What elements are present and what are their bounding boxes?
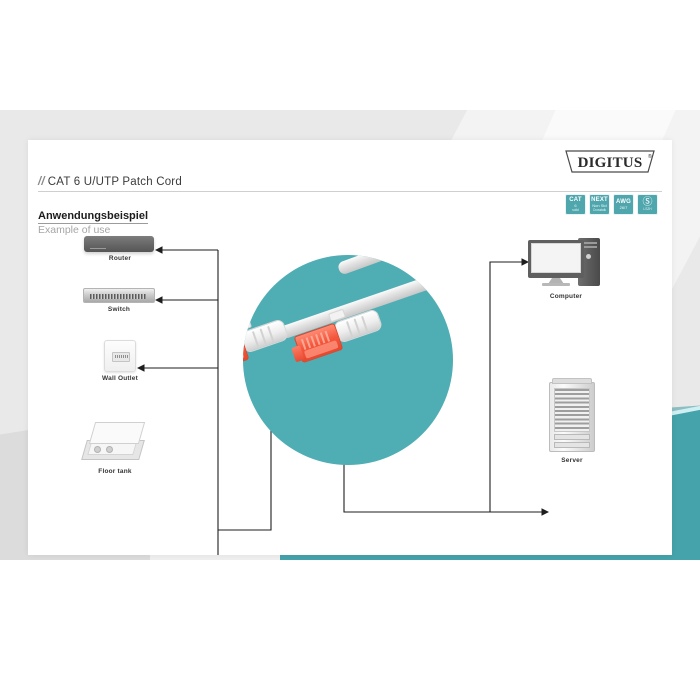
wall-outlet-icon [104, 340, 136, 372]
floor-tank-label: Floor tank [73, 468, 157, 475]
device-floor-tank[interactable]: Floor tank [73, 422, 157, 475]
server-label: Server [542, 457, 602, 464]
switch-icon [83, 288, 155, 303]
wall-outlet-label: Wall Outlet [86, 375, 154, 382]
server-icon [549, 378, 595, 452]
computer-icon [528, 238, 600, 288]
device-computer[interactable]: Computer [528, 238, 604, 300]
switch-label: Switch [83, 306, 155, 313]
device-server[interactable]: Server [542, 378, 602, 464]
device-router[interactable]: Router [84, 236, 156, 262]
patch-cord [243, 255, 453, 465]
router-label: Router [84, 255, 156, 262]
content-card: DIGITUS ® //CAT 6 U/UTP Patch Cord CAT 6… [28, 140, 672, 555]
device-wall-outlet[interactable]: Wall Outlet [86, 340, 154, 382]
router-icon [84, 236, 154, 252]
page-root: DIGITUS ® //CAT 6 U/UTP Patch Cord CAT 6… [0, 0, 700, 700]
computer-label: Computer [528, 293, 604, 300]
device-switch[interactable]: Switch [83, 288, 155, 313]
usage-diagram: Router Switch Wall Outlet Floor tank [28, 140, 672, 555]
floor-tank-icon [84, 422, 146, 462]
